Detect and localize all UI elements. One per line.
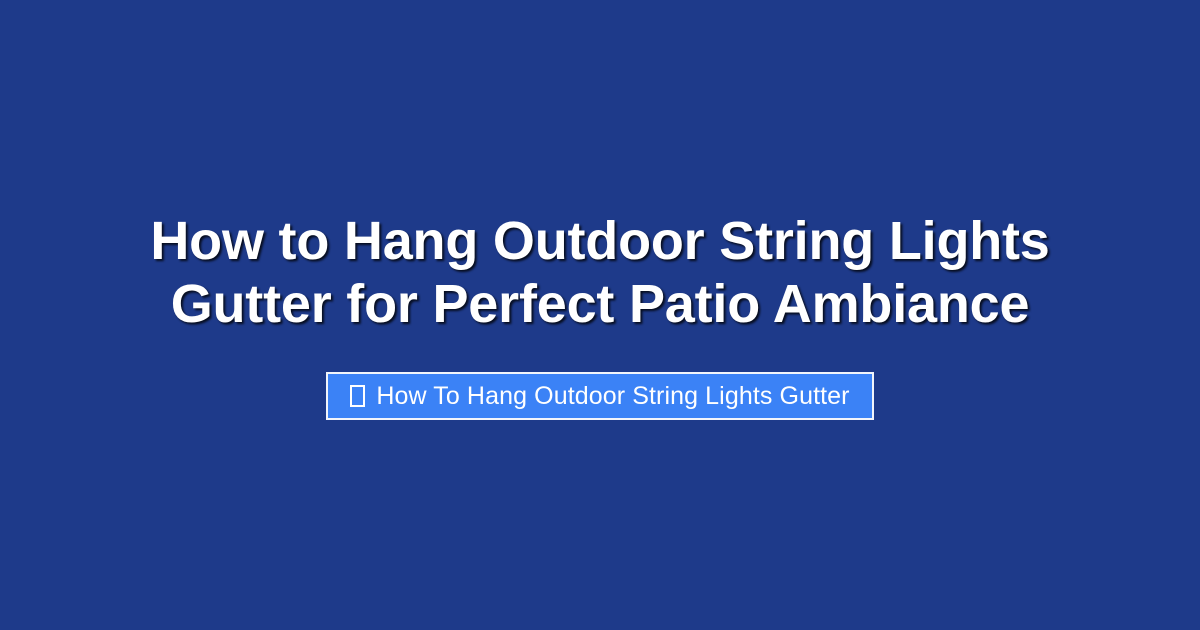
cta-button-label: How To Hang Outdoor String Lights Gutter: [376, 384, 849, 409]
how-to-hang-outdoor-string-lights-gutter-button[interactable]: How To Hang Outdoor String Lights Gutter: [326, 372, 873, 420]
card-content-stack: How to Hang Outdoor String Lights Gutter…: [0, 0, 1200, 630]
page-title: How to Hang Outdoor String Lights Gutter…: [70, 210, 1130, 336]
cta-container: How To Hang Outdoor String Lights Gutter: [0, 372, 1200, 420]
social-share-card: How to Hang Outdoor String Lights Gutter…: [0, 0, 1200, 630]
missing-glyph-box-icon: [350, 385, 365, 407]
